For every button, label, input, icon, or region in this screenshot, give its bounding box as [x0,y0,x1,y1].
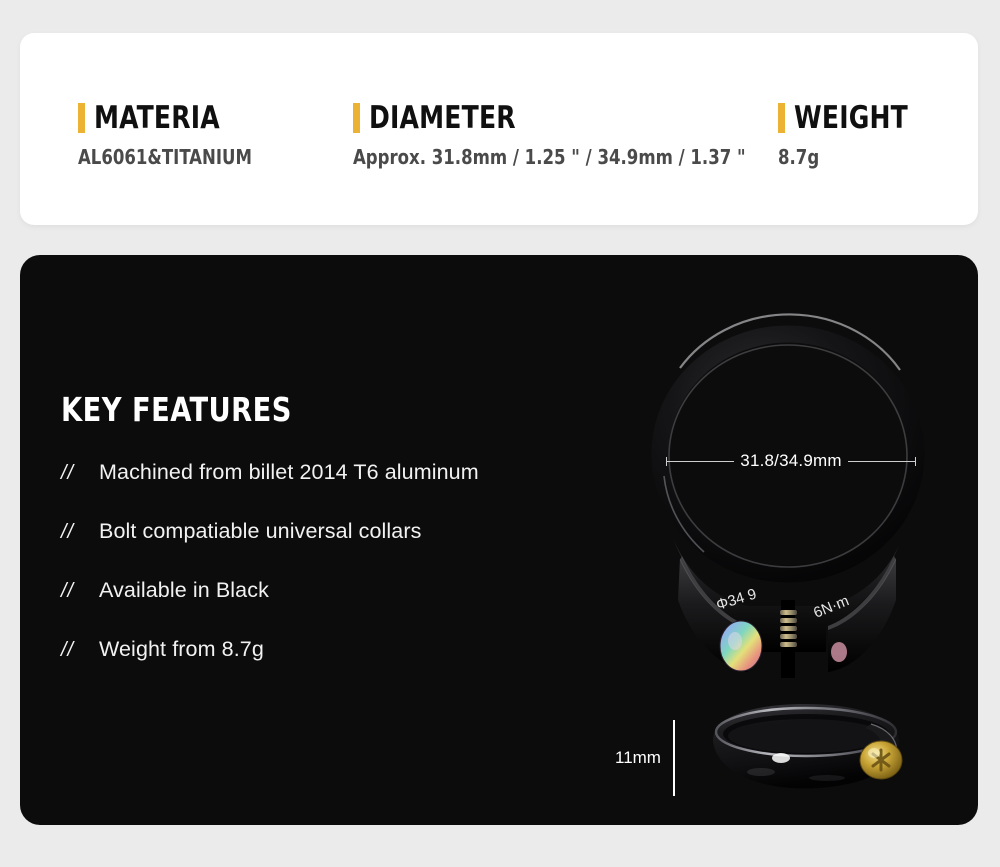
spec-column-weight: WEIGHT 8.7g [778,101,921,169]
product-photo-clamp-top: Φ34 9 6N·m 31.8/34.9mm [620,300,960,690]
spec-value-diameter: Approx. 31.8mm / 1.25 " / 34.9mm / 1.37 … [353,145,746,169]
clamp-side-illustration [695,700,945,815]
key-features-heading: KEY FEATURES [61,390,292,429]
brass-bolt-icon [860,741,902,779]
product-photo-clamp-side: 11mm [605,700,945,815]
dimension-label-height: 11mm [615,748,661,768]
feature-text: Available in Black [99,578,269,603]
dimension-horizontal: 31.8/34.9mm [666,449,916,473]
feature-text: Bolt compatiable universal collars [99,519,421,544]
accent-bar-icon [353,103,360,133]
spec-title-diameter: DIAMETER [369,102,516,134]
accent-bar-icon [78,103,85,133]
spec-heading-weight: WEIGHT [778,101,921,135]
spec-summary-card: MATERIA AL6061&TITANIUM DIAMETER Approx.… [20,33,978,225]
spec-column-diameter: DIAMETER Approx. 31.8mm / 1.25 " / 34.9m… [353,101,780,169]
dimension-line-left [667,461,734,462]
clamp-ring-illustration: Φ34 9 6N·m [620,300,960,690]
key-features-card: KEY FEATURES // Machined from billet 201… [20,255,978,825]
spec-columns: MATERIA AL6061&TITANIUM DIAMETER Approx.… [20,33,978,225]
feature-item: // Machined from billet 2014 T6 aluminum [61,460,581,519]
feature-item: // Available in Black [61,578,581,637]
spec-value-material: AL6061&TITANIUM [78,145,252,169]
feature-item: // Bolt compatiable universal collars [61,519,581,578]
feature-text: Weight from 8.7g [99,637,264,662]
dimension-vertical: 11mm [615,720,675,796]
bullet-slashes-icon: // [61,580,99,603]
iridescent-bolt-icon [720,621,762,671]
dimension-line-right [848,461,915,462]
spec-title-weight: WEIGHT [794,102,908,134]
bullet-slashes-icon: // [61,521,99,544]
dimension-line-height [673,720,675,796]
bullet-slashes-icon: // [61,639,99,662]
accent-bar-icon [778,103,785,133]
product-spec-infographic: MATERIA AL6061&TITANIUM DIAMETER Approx.… [0,0,1000,867]
feature-item: // Weight from 8.7g [61,637,581,696]
bullet-slashes-icon: // [61,462,99,485]
feature-text: Machined from billet 2014 T6 aluminum [99,460,479,485]
spec-heading-diameter: DIAMETER [353,101,780,135]
dimension-label-diameter: 31.8/34.9mm [734,451,847,471]
key-features-list: // Machined from billet 2014 T6 aluminum… [61,460,581,696]
spec-value-weight: 8.7g [778,145,909,169]
spec-column-material: MATERIA AL6061&TITANIUM [78,101,267,169]
dimension-cap-right [915,457,916,466]
spec-title-material: MATERIA [94,102,220,134]
spec-heading-material: MATERIA [78,101,267,135]
